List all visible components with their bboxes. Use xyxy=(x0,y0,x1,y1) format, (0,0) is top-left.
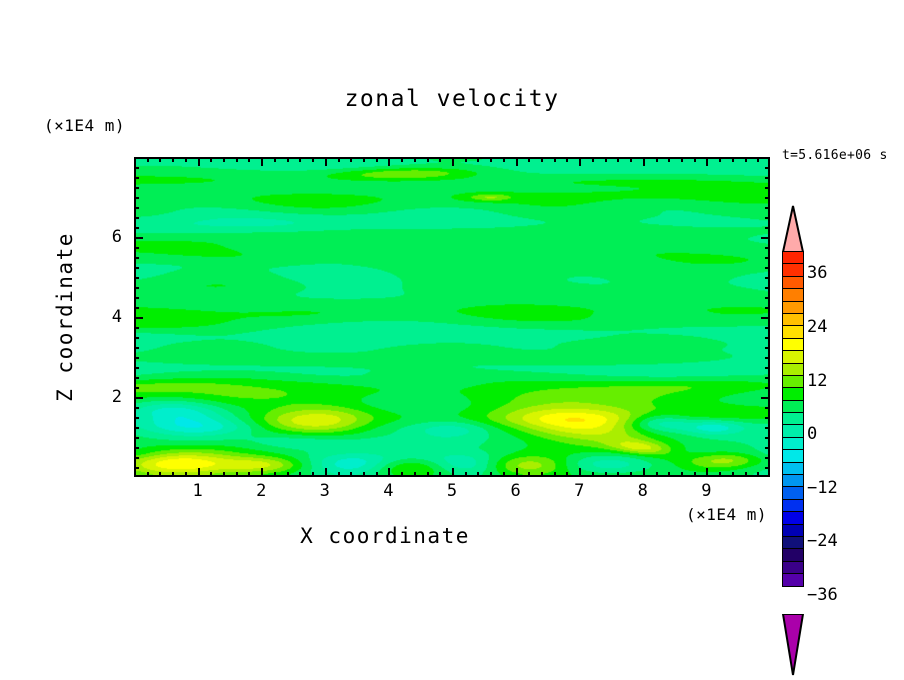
x-axis-tick xyxy=(287,157,289,162)
x-axis-tick xyxy=(541,472,543,477)
colorbar-band xyxy=(782,363,804,376)
x-axis-tick xyxy=(732,157,734,162)
colorbar-band xyxy=(782,412,804,425)
colorbar-over-cap-icon xyxy=(782,205,804,252)
x-axis-tick xyxy=(261,157,263,166)
y-axis-tick xyxy=(134,457,139,459)
x-axis-tick xyxy=(630,472,632,477)
x-axis-tick xyxy=(528,157,530,162)
y-axis-tick xyxy=(765,177,770,179)
x-axis-tick xyxy=(274,157,276,162)
x-axis-tick xyxy=(261,468,263,477)
colorbar-band xyxy=(782,325,804,338)
x-axis-tick xyxy=(376,157,378,162)
y-axis-tick xyxy=(134,387,139,389)
y-axis-tick xyxy=(134,447,139,449)
x-axis-tick xyxy=(528,472,530,477)
y-axis-tick xyxy=(765,167,770,169)
x-axis-tick xyxy=(350,472,352,477)
x-axis-tick xyxy=(554,157,556,162)
x-axis-tick xyxy=(477,157,479,162)
x-tick-label: 8 xyxy=(628,481,658,501)
x-axis-tick xyxy=(592,472,594,477)
y-axis-tick xyxy=(765,277,770,279)
chart-title: zonal velocity xyxy=(0,86,904,112)
colorbar-band xyxy=(782,276,804,289)
y-axis-tick xyxy=(134,327,139,329)
y-axis-tick xyxy=(765,267,770,269)
x-axis-tick xyxy=(198,157,200,166)
x-axis-tick xyxy=(706,468,708,477)
colorbar-band xyxy=(782,511,804,524)
x-axis-tick xyxy=(223,157,225,162)
y-axis-tick xyxy=(134,247,139,249)
y-axis-tick xyxy=(134,287,139,289)
y-axis-tick xyxy=(134,407,139,409)
x-axis-tick xyxy=(236,472,238,477)
y-axis-tick xyxy=(134,237,143,239)
x-axis-tick xyxy=(198,468,200,477)
x-axis-tick xyxy=(681,472,683,477)
colorbar-band xyxy=(782,449,804,462)
y-axis-tick xyxy=(134,277,139,279)
x-axis-tick xyxy=(719,472,721,477)
colorbar-band xyxy=(782,462,804,475)
x-axis-tick xyxy=(299,472,301,477)
x-axis-tick xyxy=(656,472,658,477)
y-axis-tick xyxy=(134,297,139,299)
x-axis-tick xyxy=(452,468,454,477)
x-axis-tick xyxy=(427,157,429,162)
x-axis-tick xyxy=(719,157,721,162)
y-axis-tick xyxy=(134,317,143,319)
y-axis-tick xyxy=(134,347,139,349)
colorbar-tick-label: 12 xyxy=(807,371,827,391)
x-axis-tick xyxy=(503,472,505,477)
colorbar-tick-label: 36 xyxy=(807,263,827,283)
x-axis-tick xyxy=(376,472,378,477)
y-axis-tick xyxy=(134,177,139,179)
x-axis-tick xyxy=(490,472,492,477)
colorbar-band xyxy=(782,400,804,413)
y-axis-tick xyxy=(765,427,770,429)
y-axis-tick xyxy=(761,237,770,239)
x-axis-tick xyxy=(630,157,632,162)
colorbar-band xyxy=(782,486,804,499)
x-axis-tick xyxy=(617,157,619,162)
y-axis-tick xyxy=(765,187,770,189)
y-tick-label: 6 xyxy=(100,227,122,247)
colorbar-band xyxy=(782,338,804,351)
x-axis-tick xyxy=(579,157,581,166)
colorbar-band xyxy=(782,536,804,549)
x-axis-tick xyxy=(617,472,619,477)
x-axis-tick xyxy=(388,468,390,477)
y-axis-tick xyxy=(134,217,139,219)
y-axis-tick xyxy=(761,317,770,319)
x-axis-tick xyxy=(592,157,594,162)
x-axis-tick xyxy=(388,157,390,166)
x-axis-tick xyxy=(363,157,365,162)
y-axis-tick xyxy=(765,467,770,469)
colorbar-tick-label: −36 xyxy=(807,585,838,605)
y-tick-label: 2 xyxy=(100,387,122,407)
x-axis-tick xyxy=(185,472,187,477)
contour-plot-area xyxy=(134,157,770,477)
zonal-velocity-field xyxy=(136,159,768,475)
x-axis-tick xyxy=(210,472,212,477)
x-axis-tick xyxy=(566,157,568,162)
x-axis-tick xyxy=(668,472,670,477)
y-axis-tick xyxy=(134,377,139,379)
x-axis-tick xyxy=(643,468,645,477)
y-axis-tick xyxy=(765,387,770,389)
x-tick-label: 7 xyxy=(564,481,594,501)
y-axis-tick xyxy=(134,187,139,189)
x-axis-tick xyxy=(147,472,149,477)
x-tick-label: 6 xyxy=(501,481,531,501)
colorbar-band xyxy=(782,573,804,586)
y-axis-tick xyxy=(765,457,770,459)
y-axis-tick xyxy=(134,337,139,339)
y-axis-tick xyxy=(134,207,139,209)
x-tick-label: 2 xyxy=(246,481,276,501)
x-axis-tick xyxy=(312,472,314,477)
x-axis-tick xyxy=(325,468,327,477)
x-axis-tick xyxy=(210,157,212,162)
y-axis-tick xyxy=(765,287,770,289)
x-axis-tick xyxy=(312,157,314,162)
y-axis-title: Z coordinate xyxy=(53,217,77,417)
colorbar-band xyxy=(782,499,804,512)
x-axis-tick xyxy=(414,157,416,162)
x-axis-tick xyxy=(605,157,607,162)
x-axis-title: X coordinate xyxy=(0,524,770,548)
y-axis-unit-label: (×1E4 m) xyxy=(44,116,125,135)
x-axis-tick xyxy=(401,472,403,477)
y-axis-tick xyxy=(765,337,770,339)
y-axis-tick xyxy=(765,347,770,349)
x-axis-tick xyxy=(274,472,276,477)
colorbar-band xyxy=(782,524,804,537)
colorbar-band xyxy=(782,301,804,314)
x-axis-tick xyxy=(401,157,403,162)
colorbar-band xyxy=(782,288,804,301)
x-tick-label: 1 xyxy=(183,481,213,501)
x-axis-tick xyxy=(159,157,161,162)
x-axis-tick xyxy=(605,472,607,477)
x-axis-tick xyxy=(694,472,696,477)
y-axis-tick xyxy=(765,407,770,409)
timestamp-label: t=5.616e+06 s xyxy=(782,148,888,163)
x-axis-tick xyxy=(503,157,505,162)
x-axis-tick xyxy=(338,157,340,162)
colorbar-band xyxy=(782,437,804,450)
y-axis-tick xyxy=(765,377,770,379)
x-axis-tick xyxy=(465,157,467,162)
x-axis-tick xyxy=(554,472,556,477)
y-axis-tick xyxy=(765,447,770,449)
colorbar-under-cap-icon xyxy=(782,614,804,676)
colorbar-band xyxy=(782,561,804,574)
x-axis-tick xyxy=(439,157,441,162)
y-tick-label: 4 xyxy=(100,307,122,327)
x-axis-tick xyxy=(681,157,683,162)
x-axis-tick xyxy=(338,472,340,477)
y-axis-tick xyxy=(765,297,770,299)
x-axis-tick xyxy=(223,472,225,477)
x-axis-tick xyxy=(643,157,645,166)
x-axis-tick xyxy=(439,472,441,477)
x-axis-tick xyxy=(248,157,250,162)
x-axis-tick xyxy=(490,157,492,162)
x-axis-tick xyxy=(248,472,250,477)
y-axis-tick xyxy=(765,197,770,199)
y-axis-tick xyxy=(134,267,139,269)
y-axis-tick xyxy=(765,437,770,439)
colorbar-band xyxy=(782,313,804,326)
x-axis-tick xyxy=(427,472,429,477)
x-axis-tick xyxy=(745,157,747,162)
y-axis-tick xyxy=(765,367,770,369)
x-axis-tick xyxy=(516,468,518,477)
y-axis-tick xyxy=(765,217,770,219)
colorbar-band xyxy=(782,350,804,363)
x-axis-tick xyxy=(668,157,670,162)
y-axis-tick xyxy=(765,327,770,329)
x-axis-tick xyxy=(287,472,289,477)
y-axis-tick xyxy=(765,307,770,309)
y-axis-tick xyxy=(134,227,139,229)
x-axis-tick xyxy=(185,157,187,162)
x-axis-tick xyxy=(172,472,174,477)
x-axis-tick xyxy=(745,472,747,477)
colorbar: 3624120−12−24−36 xyxy=(775,205,825,520)
colorbar-band xyxy=(782,387,804,400)
x-axis-tick xyxy=(236,157,238,162)
y-axis-tick xyxy=(765,247,770,249)
x-axis-tick xyxy=(465,472,467,477)
x-axis-tick xyxy=(566,472,568,477)
x-axis-tick xyxy=(516,157,518,166)
colorbar-tick-label: 24 xyxy=(807,317,827,337)
x-axis-tick xyxy=(656,157,658,162)
x-axis-tick xyxy=(477,472,479,477)
y-axis-tick xyxy=(765,227,770,229)
y-axis-tick xyxy=(765,207,770,209)
x-axis-tick xyxy=(757,472,759,477)
x-tick-label: 9 xyxy=(691,481,721,501)
y-axis-tick xyxy=(134,397,143,399)
colorbar-tick-label: −24 xyxy=(807,531,838,551)
y-axis-tick xyxy=(134,357,139,359)
y-axis-tick xyxy=(134,197,139,199)
x-axis-tick xyxy=(325,157,327,166)
x-axis-tick xyxy=(414,472,416,477)
colorbar-band xyxy=(782,263,804,276)
colorbar-band xyxy=(782,548,804,561)
x-axis-tick xyxy=(147,157,149,162)
y-axis-tick xyxy=(134,467,139,469)
x-axis-tick xyxy=(757,157,759,162)
x-axis-tick xyxy=(172,157,174,162)
colorbar-band xyxy=(782,375,804,388)
y-axis-tick xyxy=(134,437,139,439)
colorbar-bands xyxy=(782,252,804,587)
x-axis-tick xyxy=(452,157,454,166)
y-axis-tick xyxy=(134,427,139,429)
x-axis-tick xyxy=(541,157,543,162)
x-axis-tick xyxy=(579,468,581,477)
y-axis-tick xyxy=(761,397,770,399)
x-axis-tick xyxy=(350,157,352,162)
y-axis-tick xyxy=(134,167,139,169)
y-axis-tick xyxy=(134,257,139,259)
y-axis-tick xyxy=(765,357,770,359)
y-axis-tick xyxy=(134,307,139,309)
x-axis-tick xyxy=(706,157,708,166)
y-axis-tick xyxy=(765,257,770,259)
x-tick-label: 5 xyxy=(437,481,467,501)
x-axis-tick xyxy=(694,157,696,162)
y-axis-tick xyxy=(134,367,139,369)
y-axis-tick xyxy=(765,417,770,419)
x-tick-label: 3 xyxy=(310,481,340,501)
x-axis-tick xyxy=(363,472,365,477)
x-axis-tick xyxy=(159,472,161,477)
colorbar-tick-label: 0 xyxy=(807,424,817,444)
x-axis-tick xyxy=(732,472,734,477)
x-axis-unit-label: (×1E4 m) xyxy=(686,505,767,524)
x-axis-tick xyxy=(299,157,301,162)
colorbar-band xyxy=(782,474,804,487)
colorbar-tick-label: −12 xyxy=(807,478,838,498)
y-axis-tick xyxy=(134,417,139,419)
colorbar-band xyxy=(782,251,804,264)
x-tick-label: 4 xyxy=(373,481,403,501)
colorbar-band xyxy=(782,424,804,437)
